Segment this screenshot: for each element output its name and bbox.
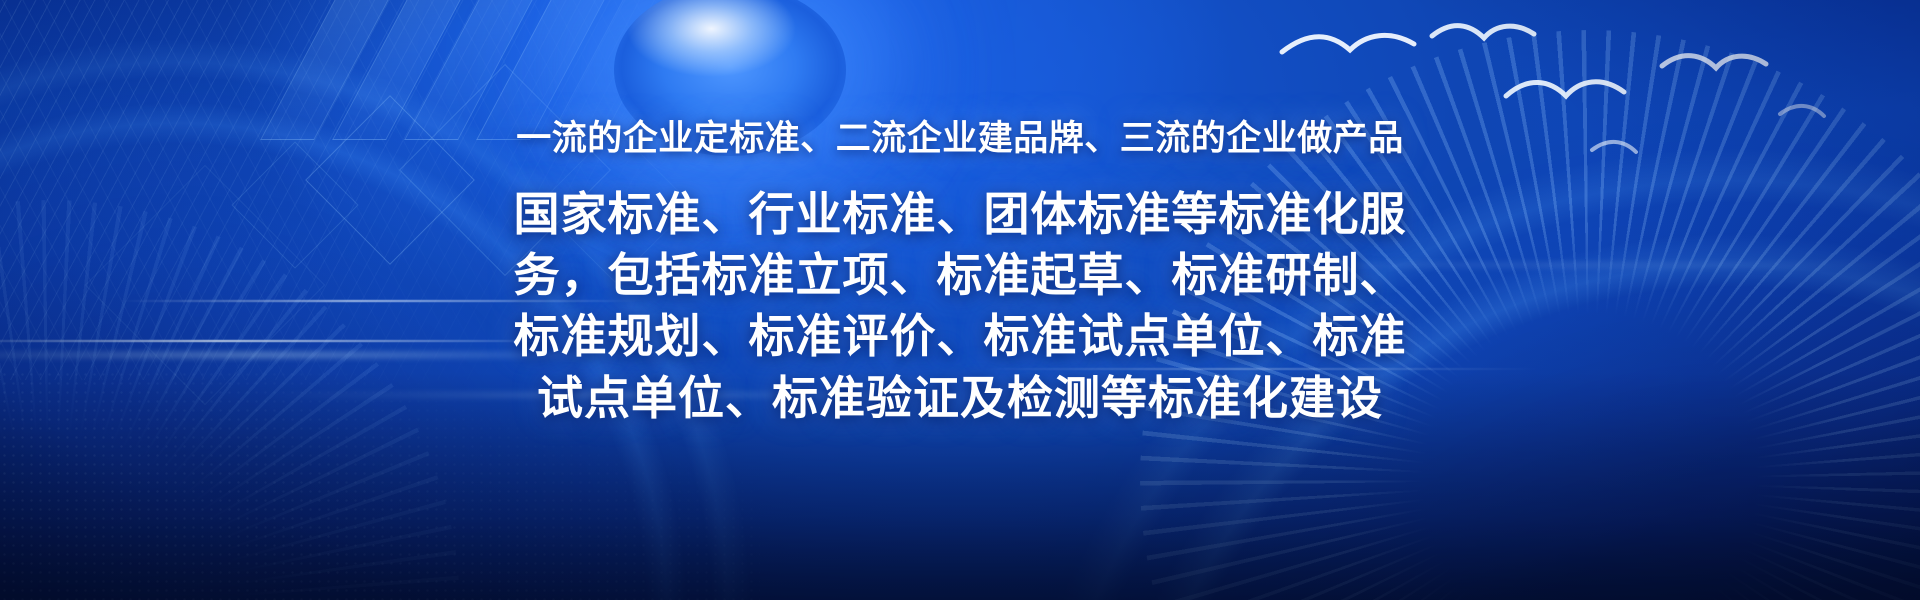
banner-body-text: 国家标准、行业标准、团体标准等标准化服 务，包括标准立项、标准起草、标准研制、 … [445, 184, 1475, 429]
banner-body-line: 试点单位、标准验证及检测等标准化建设 [445, 368, 1475, 429]
promotional-banner: 一流的企业定标准、二流企业建品牌、三流的企业做产品 国家标准、行业标准、团体标准… [0, 0, 1920, 600]
banner-body-line: 务，包括标准立项、标准起草、标准研制、 [445, 245, 1475, 306]
banner-copy: 一流的企业定标准、二流企业建品牌、三流的企业做产品 国家标准、行业标准、团体标准… [0, 0, 1920, 429]
banner-body-line: 标准规划、标准评价、标准试点单位、标准 [445, 306, 1475, 367]
banner-body-line: 国家标准、行业标准、团体标准等标准化服 [445, 184, 1475, 245]
banner-headline: 一流的企业定标准、二流企业建品牌、三流的企业做产品 [0, 0, 1920, 160]
